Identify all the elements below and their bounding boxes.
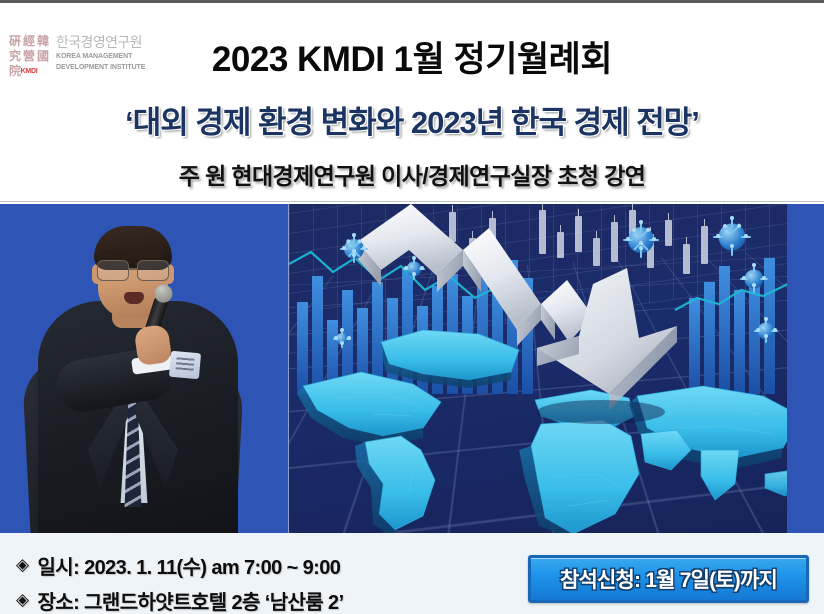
seminar-poster: 韓 經 硏 國 營 究 KMDI 院 한국경영연구원 KOREA MANAGEM… [0, 0, 824, 614]
photo-mouth [124, 292, 144, 304]
poster-media-band [0, 204, 824, 533]
diamond-bullet-icon: ◈ [16, 592, 28, 609]
event-datetime: ◈ 일시: 2023. 1. 11(수) am 7:00 ~ 9:00 [16, 551, 340, 580]
registration-deadline-button[interactable]: 참석신청: 1월 7일(토)까지 [528, 555, 809, 603]
event-venue: ◈ 장소: 그랜드하얏트호텔 2층 ‘남산룸 2’ [16, 586, 344, 614]
virus-icon [331, 328, 353, 350]
glasses-lens-right [137, 260, 169, 281]
registration-deadline-label: 참석신청: 1월 7일(토)까지 [560, 564, 777, 594]
event-datetime-text: 일시: 2023. 1. 11(수) am 7:00 ~ 9:00 [37, 551, 340, 580]
glasses-bridge [129, 268, 138, 270]
virus-icon [751, 316, 781, 346]
event-venue-text: 장소: 그랜드하얏트호텔 2층 ‘남산룸 2’ [37, 586, 343, 614]
poster-speaker-line: 주 원 현대경제연구원 이사/경제연구실장 초청 강연 [0, 159, 824, 193]
poster-subtitle: ‘대외 경제 환경 변화와 2023년 한국 경제 전망’ [0, 102, 824, 144]
glasses-icon [96, 260, 170, 279]
virus-icon [619, 218, 663, 262]
virus-icon [337, 232, 371, 266]
economy-downturn-graphic [288, 204, 787, 533]
virus-icon [737, 262, 771, 296]
speaker-photo [0, 204, 288, 533]
virus-icon [401, 256, 427, 282]
poster-header: 韓 經 硏 國 營 究 KMDI 院 한국경영연구원 KOREA MANAGEM… [0, 3, 824, 202]
photo-name-badge [169, 351, 201, 380]
virus-icon [709, 214, 755, 260]
poster-title: 2023 KMDI 1월 정기월례회 [0, 38, 824, 82]
glasses-lens-left [97, 260, 129, 281]
diamond-bullet-icon: ◈ [16, 557, 28, 574]
